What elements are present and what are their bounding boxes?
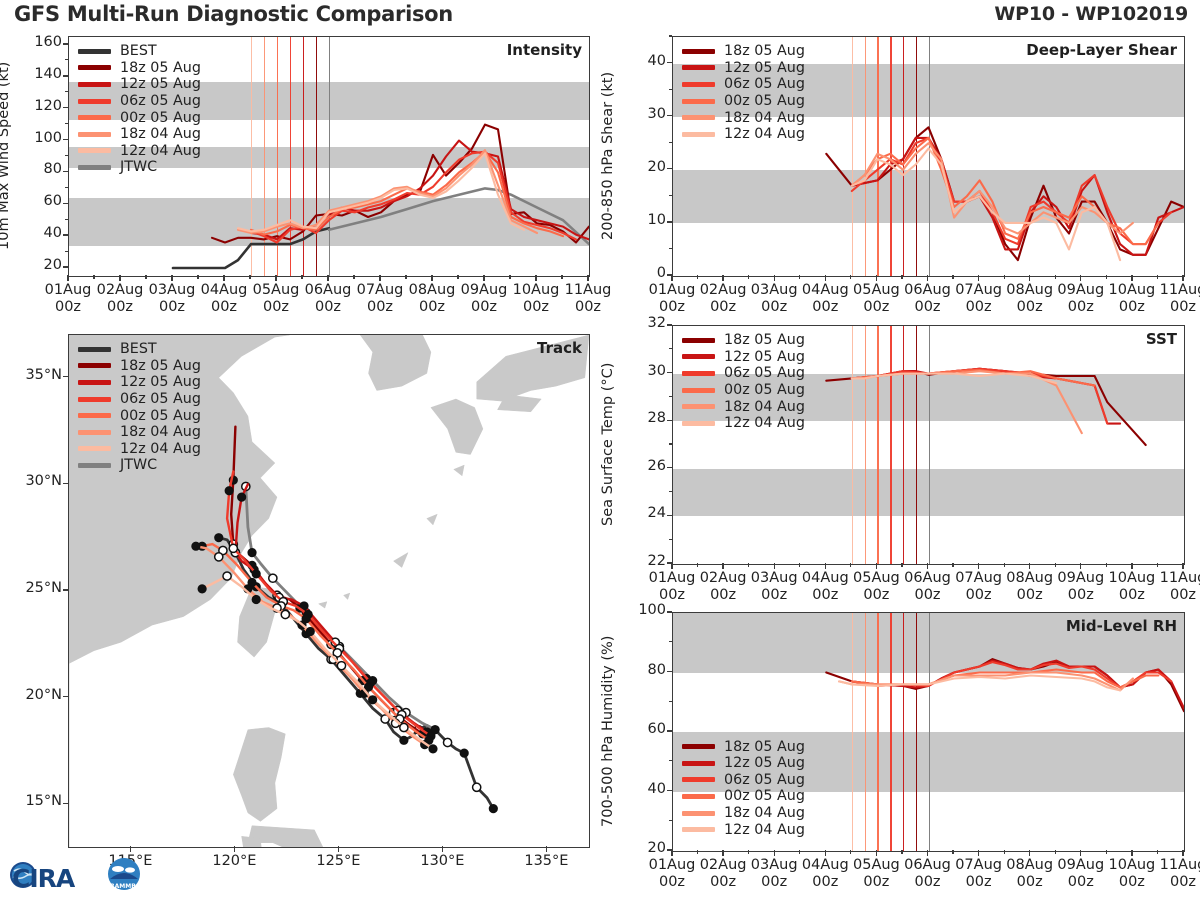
track-marker-open (215, 553, 223, 561)
track-lat-tick-4: 35°N (6, 367, 62, 383)
legend-swatch-jtwc (78, 463, 111, 468)
legend-label-18z-05-aug: 18z 05 Aug (120, 358, 201, 374)
track-lat-tick-3: 30°N (6, 473, 62, 489)
landmass-miyako (344, 593, 350, 599)
track-lon-tick-1: 120°E (189, 853, 279, 870)
legend-swatch-00z-05-aug (78, 413, 111, 418)
landmass-ishigaki (319, 602, 327, 608)
track-marker-filled (192, 542, 200, 550)
track-marker-open (443, 738, 451, 746)
track-marker-filled (248, 549, 256, 557)
legend-label-12z-05-aug: 12z 05 Aug (120, 374, 201, 390)
legend-swatch-12z-04-aug (78, 446, 111, 451)
legend-swatch-12z-05-aug (78, 380, 111, 385)
legend-swatch-18z-04-aug (78, 430, 111, 435)
track-marker-open (337, 662, 345, 670)
track-marker-filled (369, 696, 377, 704)
track-marker-open (269, 574, 277, 582)
track-lon-tickmark (338, 846, 339, 852)
landmass-tanegashima (454, 465, 464, 476)
track-marker-filled (400, 736, 408, 744)
track-marker-filled (225, 487, 233, 495)
track-marker-filled (429, 745, 437, 753)
track-marker-open (223, 572, 231, 580)
track-lon-tickmark (234, 846, 235, 852)
landmass-luzon (233, 728, 285, 822)
legend-label-18z-04-aug: 18z 04 Aug (120, 424, 201, 440)
track-marker-open (281, 610, 289, 618)
track-lat-tick-0: 15°N (6, 793, 62, 809)
track-lat-tick-1: 20°N (6, 687, 62, 703)
legend-label-12z-04-aug: 12z 04 Aug (120, 441, 201, 457)
track-panel-title: Track (537, 339, 582, 357)
legend-label-00z-05-aug: 00z 05 Aug (120, 408, 201, 424)
track-lat-tickmark (63, 376, 68, 377)
track-lat-tickmark (63, 696, 68, 697)
track-marker-filled (489, 805, 497, 813)
track-marker-open (473, 783, 481, 791)
track-marker-filled (238, 493, 246, 501)
track-legend-item: JTWC (78, 457, 201, 474)
landmass-okinawa (394, 553, 409, 568)
track-legend-item: BEST (78, 341, 201, 358)
legend-label-06z-05-aug: 06z 05 Aug (120, 391, 201, 407)
track-lat-tick-2: 25°N (6, 580, 62, 596)
track-marker-filled (252, 595, 260, 603)
landmass-kyushu (431, 399, 483, 455)
track-marker-filled (460, 749, 468, 757)
track-legend-item: 06z 05 Aug (78, 391, 201, 408)
cira-logo: CIRA RAMMB (6, 849, 156, 897)
legend-swatch-best (78, 347, 111, 352)
panel-track-map: Track15°N20°N25°N30°N35°N115°E120°E125°E… (0, 0, 1200, 900)
track-marker-filled (215, 534, 223, 542)
track-marker-filled (306, 627, 314, 635)
track-lon-tick-2: 125°E (293, 853, 383, 870)
legend-label-jtwc: JTWC (120, 457, 157, 473)
legend-swatch-18z-05-aug (78, 363, 111, 368)
track-marker-filled (198, 585, 206, 593)
track-lon-tickmark (546, 846, 547, 852)
legend-swatch-06z-05-aug (78, 397, 111, 402)
track-lon-tick-4: 135°E (501, 853, 591, 870)
svg-text:RAMMB: RAMMB (110, 883, 136, 890)
track-legend-item: 12z 05 Aug (78, 374, 201, 391)
track-legend: BEST18z 05 Aug12z 05 Aug06z 05 Aug00z 05… (78, 341, 201, 474)
track-lon-tickmark (442, 846, 443, 852)
track-lon-tick-3: 130°E (397, 853, 487, 870)
track-legend-item: 12z 04 Aug (78, 441, 201, 458)
track-marker-open (400, 723, 408, 731)
track-lat-tickmark (63, 483, 68, 484)
track-marker-open (229, 544, 237, 552)
landmass-korea (360, 335, 431, 391)
track-legend-item: 18z 05 Aug (78, 358, 201, 375)
track-marker-filled (252, 570, 260, 578)
track-lat-tickmark (63, 589, 68, 590)
svg-text:CIRA: CIRA (12, 864, 76, 893)
track-legend-item: 00z 05 Aug (78, 407, 201, 424)
track-line-12z-04-aug (202, 576, 433, 749)
legend-label-best: BEST (120, 341, 157, 357)
track-lat-tickmark (63, 803, 68, 804)
landmass-amami (427, 514, 437, 525)
track-legend-item: 18z 04 Aug (78, 424, 201, 441)
